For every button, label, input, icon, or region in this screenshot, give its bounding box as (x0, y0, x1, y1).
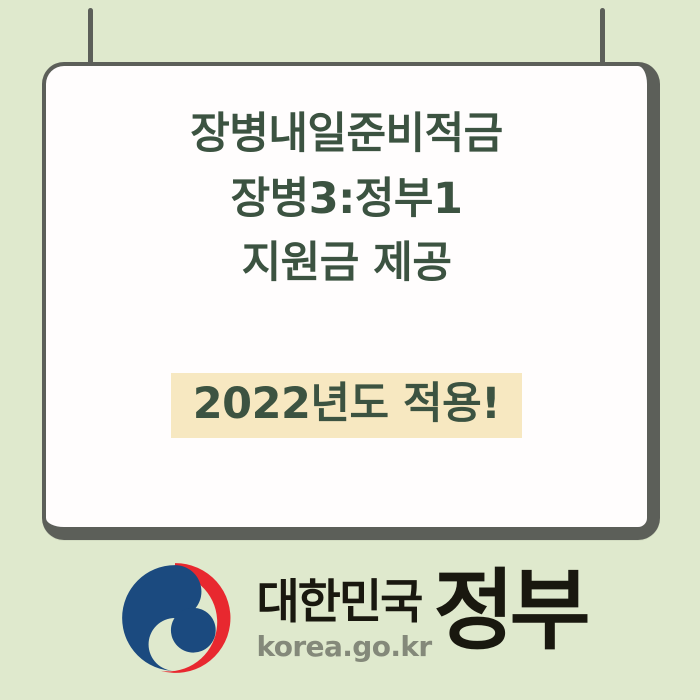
banner-text: 2022년도 적용! (193, 379, 501, 429)
logo-wordmark-left: 대한민국 korea.go.kr (256, 579, 431, 661)
whiteboard-content: 장병내일준비적금 장병3:정부1 지원금 제공 2022년도 적용! (46, 66, 647, 527)
taegeuk-emblem (114, 557, 236, 679)
logo-wordmark: 대한민국 korea.go.kr 정부 (256, 579, 585, 661)
banner-row: 2022년도 적용! (46, 373, 647, 438)
headline-line-2: 장병3:정부1 (231, 177, 463, 223)
whiteboard-panel: 장병내일준비적금 장병3:정부1 지원금 제공 2022년도 적용! (42, 62, 660, 540)
government-logo: 대한민국 korea.go.kr 정부 (0, 552, 700, 684)
logo-url: korea.go.kr (256, 633, 431, 661)
poster-canvas: 장병내일준비적금 장병3:정부1 지원금 제공 2022년도 적용! 대한민국 … (0, 0, 700, 700)
headline-line-3: 지원금 제공 (242, 241, 452, 287)
logo-korean-name: 대한민국 (256, 579, 421, 626)
highlight-banner: 2022년도 적용! (171, 373, 523, 438)
headline-line-1: 장병내일준비적금 (190, 112, 502, 158)
logo-korean-name-large: 정부 (434, 573, 586, 649)
